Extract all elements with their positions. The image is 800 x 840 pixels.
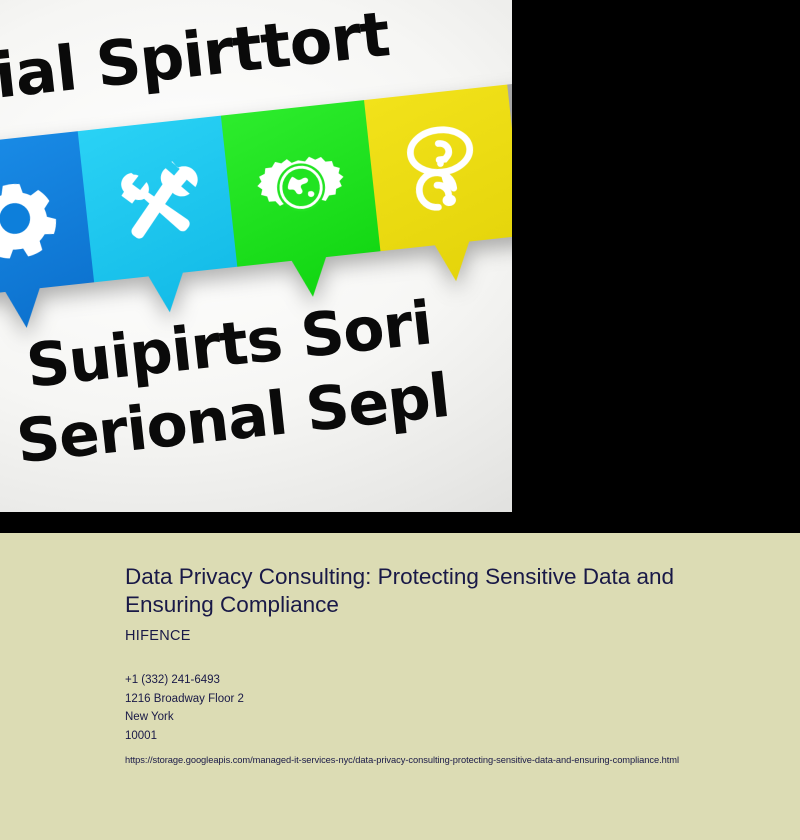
contact-city: New York: [125, 708, 792, 727]
page-title: Data Privacy Consulting: Protecting Sens…: [125, 563, 745, 619]
headset-support-icon: [391, 119, 497, 225]
source-url[interactable]: https://storage.googleapis.com/managed-i…: [125, 755, 792, 765]
contact-phone: +1 (332) 241-6493: [125, 671, 792, 690]
contact-block: +1 (332) 241-6493 1216 Broadway Floor 2 …: [125, 671, 792, 745]
hero-photo-canvas: uticial Spirttort: [0, 0, 512, 512]
info-content: Data Privacy Consulting: Protecting Sens…: [125, 563, 792, 765]
service-tab-gear-globe: [221, 100, 385, 304]
info-panel: Data Privacy Consulting: Protecting Sens…: [0, 533, 800, 840]
service-tab-tools: [78, 116, 242, 320]
gear-globe-icon: [248, 134, 354, 240]
wrench-screwdriver-icon: [105, 150, 211, 256]
contact-postal-code: 10001: [125, 727, 792, 746]
frame-right-fill: [512, 0, 800, 533]
brand-name: HIFENCE: [125, 628, 792, 644]
contact-street: 1216 Broadway Floor 2: [125, 690, 792, 709]
service-tab-support: [364, 85, 512, 289]
gear-icon: [0, 166, 68, 272]
hero-photo: uticial Spirttort: [0, 0, 512, 512]
frame-bottom-fill: [0, 512, 512, 533]
